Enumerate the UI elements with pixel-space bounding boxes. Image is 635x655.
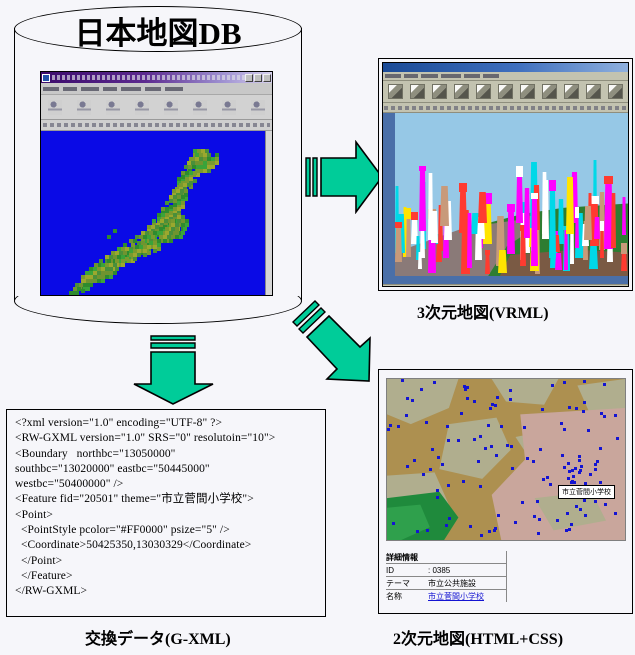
map-point-marker[interactable] bbox=[469, 525, 472, 528]
map-point-marker[interactable] bbox=[489, 407, 492, 410]
vrml-building bbox=[428, 173, 433, 240]
map-point-marker[interactable] bbox=[425, 421, 428, 424]
detail-value-id: : 0385 bbox=[428, 566, 506, 575]
map-point-marker[interactable] bbox=[526, 457, 529, 460]
vrml-titlebar[interactable] bbox=[383, 63, 628, 72]
vrml-building bbox=[600, 231, 604, 258]
map-point-marker[interactable] bbox=[594, 500, 597, 503]
vrml-search-icon[interactable] bbox=[498, 84, 513, 99]
detail-key-name: 名称 bbox=[386, 591, 428, 602]
detail-key-theme: テーマ bbox=[386, 578, 428, 589]
map-point-marker[interactable] bbox=[422, 473, 425, 476]
vrml-forward-icon[interactable] bbox=[410, 84, 425, 99]
map-land-cell bbox=[153, 249, 157, 253]
map-point-marker[interactable] bbox=[563, 428, 566, 431]
vrml-edit-icon[interactable] bbox=[608, 84, 623, 99]
vrml-viewer-window[interactable] bbox=[382, 62, 629, 287]
map2d-canvas[interactable]: 市立菅間小学校 bbox=[386, 378, 626, 541]
vrml-building-cap bbox=[575, 207, 579, 218]
map-land-cell bbox=[137, 253, 141, 257]
map-land-cell bbox=[101, 271, 105, 275]
database-title: 日本地図DB bbox=[14, 8, 302, 53]
map-point-marker[interactable] bbox=[509, 389, 512, 392]
map-point-marker[interactable] bbox=[574, 467, 577, 470]
map-point-marker[interactable] bbox=[473, 438, 476, 441]
map-point-marker[interactable] bbox=[497, 514, 500, 517]
map-land-cell bbox=[193, 179, 197, 183]
menu-item-edit[interactable] bbox=[63, 87, 77, 91]
map-point-marker[interactable] bbox=[603, 383, 606, 386]
caption-html-map: 2次元地図(HTML+CSS) bbox=[393, 625, 563, 649]
map-land-cell bbox=[157, 247, 161, 251]
map-land-cell bbox=[193, 171, 197, 175]
vrml-viewer-frame bbox=[378, 58, 633, 291]
map-land-cell bbox=[113, 271, 117, 275]
map-point-marker[interactable] bbox=[583, 380, 586, 383]
app-icon bbox=[42, 74, 50, 82]
vrml-stop-icon[interactable] bbox=[432, 84, 447, 99]
gxml-code-box: <?xml version="1.0" encoding="UTF-8" ?> … bbox=[6, 409, 326, 617]
vrml-viewer-statusbar bbox=[383, 276, 628, 284]
map-point-marker[interactable] bbox=[447, 484, 450, 487]
map-point-marker[interactable] bbox=[506, 444, 509, 447]
vrml-history-icon[interactable] bbox=[542, 84, 557, 99]
map-land-cell bbox=[169, 239, 173, 243]
vrml-building bbox=[555, 253, 562, 270]
vrml-building-cap bbox=[621, 243, 627, 254]
detail-info-title: 詳細情報 bbox=[386, 552, 418, 563]
detail-value-theme: 市立公共施設 bbox=[428, 578, 506, 589]
map-point-marker[interactable] bbox=[567, 462, 570, 465]
map-land-cell bbox=[215, 161, 219, 165]
map-point-marker[interactable] bbox=[568, 470, 571, 473]
arrow-to-vrml bbox=[304, 140, 384, 214]
map-land-cell bbox=[181, 205, 185, 209]
menu-bar[interactable] bbox=[41, 83, 272, 95]
vrml-building bbox=[419, 171, 426, 231]
map-point-marker[interactable] bbox=[389, 424, 392, 427]
vrml-building bbox=[564, 230, 568, 270]
vrml-building bbox=[611, 193, 616, 248]
vrml-building bbox=[478, 192, 487, 223]
map-island-cell bbox=[107, 235, 111, 239]
map-point-marker[interactable] bbox=[496, 396, 499, 399]
vrml-building bbox=[622, 197, 626, 235]
vrml-menu-view[interactable] bbox=[421, 74, 438, 78]
maximize-button[interactable] bbox=[254, 74, 262, 82]
map-point-marker[interactable] bbox=[466, 386, 469, 389]
vrml-3d-scene[interactable] bbox=[383, 113, 628, 276]
map-point-marker[interactable] bbox=[509, 398, 512, 401]
map-point-marker[interactable] bbox=[420, 388, 423, 391]
map-point-marker[interactable] bbox=[600, 412, 603, 415]
map-point-marker[interactable] bbox=[480, 534, 483, 537]
vrml-menu-edit[interactable] bbox=[404, 74, 418, 78]
map-point-marker[interactable] bbox=[614, 512, 617, 515]
map-point-marker[interactable] bbox=[573, 481, 576, 484]
vertical-scrollbar[interactable] bbox=[265, 131, 272, 296]
map-island-cell bbox=[81, 289, 85, 293]
map-point-marker[interactable] bbox=[479, 435, 482, 438]
vrml-building-cap bbox=[549, 180, 556, 191]
vrml-building-cap bbox=[485, 250, 490, 255]
map-point-marker[interactable] bbox=[575, 505, 578, 508]
map-point-marker[interactable] bbox=[546, 476, 549, 479]
map-point-marker[interactable] bbox=[460, 412, 463, 415]
vrml-building-cap bbox=[459, 183, 467, 192]
detail-key-id: ID bbox=[386, 566, 428, 575]
vrml-building bbox=[531, 199, 538, 266]
vrml-building bbox=[516, 177, 523, 223]
map-point-marker[interactable] bbox=[579, 469, 582, 472]
vrml-building bbox=[485, 255, 490, 274]
map-point-marker[interactable] bbox=[446, 425, 449, 428]
map-point-marker[interactable] bbox=[500, 425, 503, 428]
map-point-marker[interactable] bbox=[589, 473, 592, 476]
map-point-marker[interactable] bbox=[532, 460, 535, 463]
vrml-favorites-icon[interactable] bbox=[520, 84, 535, 99]
vrml-building bbox=[440, 186, 449, 226]
map-point-marker[interactable] bbox=[473, 400, 476, 403]
map-point-marker[interactable] bbox=[567, 477, 570, 480]
vrml-building bbox=[498, 250, 507, 273]
map-point-marker[interactable] bbox=[491, 403, 494, 406]
map-point-marker[interactable] bbox=[533, 515, 536, 518]
map-point-marker[interactable] bbox=[406, 397, 409, 400]
map-point-marker[interactable] bbox=[406, 465, 409, 468]
vrml-building bbox=[406, 219, 411, 257]
vrml-building bbox=[467, 213, 472, 268]
caption-gxml: 交換データ(G-XML) bbox=[85, 625, 231, 649]
map-point-marker[interactable] bbox=[614, 414, 617, 417]
map-point-marker[interactable] bbox=[594, 463, 597, 466]
map-point-marker[interactable] bbox=[566, 512, 569, 515]
minimize-button[interactable] bbox=[245, 74, 253, 82]
arrow-to-gxml bbox=[133, 334, 217, 408]
map-point-marker[interactable] bbox=[578, 459, 581, 462]
window-controls[interactable] bbox=[245, 74, 271, 82]
vrml-refresh-icon[interactable] bbox=[454, 84, 469, 99]
vrml-building bbox=[524, 188, 530, 238]
map-point-marker[interactable] bbox=[413, 459, 416, 462]
map-point-marker[interactable] bbox=[514, 521, 517, 524]
map-point-marker[interactable] bbox=[594, 468, 597, 471]
japan-map-viewport[interactable] bbox=[41, 131, 272, 296]
vrml-building-cap bbox=[406, 208, 411, 219]
vrml-building-cap bbox=[600, 221, 604, 231]
map-point-marker[interactable] bbox=[568, 528, 571, 531]
map-land-cell bbox=[187, 183, 191, 187]
caption-vrml: 3次元地図(VRML) bbox=[417, 299, 549, 323]
vrml-building bbox=[549, 191, 556, 258]
map-point-marker[interactable] bbox=[539, 448, 542, 451]
map-point-marker[interactable] bbox=[493, 529, 496, 532]
map-point-marker[interactable] bbox=[511, 467, 514, 470]
map-point-marker[interactable] bbox=[582, 410, 585, 413]
map-point-marker[interactable] bbox=[604, 503, 607, 506]
address-text[interactable] bbox=[43, 123, 270, 127]
map-point-marker[interactable] bbox=[445, 524, 448, 527]
home-icon[interactable] bbox=[164, 100, 178, 115]
vrml-building bbox=[594, 217, 600, 239]
map-point-marker[interactable] bbox=[436, 496, 439, 499]
map-point-marker[interactable] bbox=[551, 384, 554, 387]
map-point-marker[interactable] bbox=[521, 501, 524, 504]
vrml-building bbox=[575, 218, 579, 248]
map-point-marker[interactable] bbox=[477, 460, 480, 463]
map-point-marker[interactable] bbox=[561, 454, 564, 457]
map-point-marker[interactable] bbox=[426, 529, 429, 532]
print-icon[interactable] bbox=[251, 100, 265, 115]
map-point-marker[interactable] bbox=[448, 517, 451, 520]
map-point-marker[interactable] bbox=[494, 404, 497, 407]
japan-map-browser-window[interactable] bbox=[40, 71, 273, 296]
html-css-map-frame: 市立菅間小学校 詳細情報 ID : 0385 テーマ 市立公共施設 名称 市立菅… bbox=[378, 369, 633, 614]
map-point-marker[interactable] bbox=[563, 466, 566, 469]
map-point-marker[interactable] bbox=[510, 445, 513, 448]
map-point-marker[interactable] bbox=[397, 425, 400, 428]
map-point-marker[interactable] bbox=[599, 447, 602, 450]
close-button[interactable] bbox=[263, 74, 271, 82]
map-land-cell bbox=[147, 245, 151, 249]
vrml-building-cap bbox=[507, 204, 515, 212]
menu-item-help[interactable] bbox=[165, 87, 183, 91]
map-land-cell bbox=[181, 231, 185, 235]
map-point-marker[interactable] bbox=[433, 381, 436, 384]
map-point-marker[interactable] bbox=[584, 514, 587, 517]
map-point-marker[interactable] bbox=[549, 483, 552, 486]
map-land-cell bbox=[77, 295, 81, 296]
map-point-marker[interactable] bbox=[575, 407, 578, 410]
search-icon[interactable] bbox=[193, 100, 207, 115]
map-tooltip: 市立菅間小学校 bbox=[558, 485, 615, 499]
vrml-building-cap bbox=[411, 212, 418, 220]
vrml-building bbox=[566, 177, 574, 234]
map-point-marker[interactable] bbox=[495, 454, 498, 457]
map-land-cell bbox=[179, 235, 183, 239]
map-point-marker[interactable] bbox=[542, 478, 545, 481]
map-point-marker[interactable] bbox=[466, 397, 469, 400]
map-point-marker[interactable] bbox=[599, 481, 602, 484]
vrml-toolbar[interactable] bbox=[383, 81, 628, 103]
map-point-marker[interactable] bbox=[570, 523, 573, 526]
map-detail-info-panel: 詳細情報 ID : 0385 テーマ 市立公共施設 名称 市立菅間小学校 bbox=[386, 551, 507, 602]
back-icon[interactable] bbox=[48, 100, 62, 115]
menu-item-tools[interactable] bbox=[145, 87, 161, 91]
refresh-icon[interactable] bbox=[135, 100, 149, 115]
vrml-building-cap bbox=[604, 176, 613, 184]
map-point-marker[interactable] bbox=[537, 532, 540, 535]
map-point-marker[interactable] bbox=[437, 456, 440, 459]
map-point-marker[interactable] bbox=[603, 415, 606, 418]
vrml-building-cap bbox=[531, 193, 538, 199]
map-point-marker[interactable] bbox=[387, 428, 390, 431]
map-point-marker[interactable] bbox=[616, 437, 619, 440]
map-point-marker[interactable] bbox=[431, 448, 434, 451]
vrml-mail-icon[interactable] bbox=[564, 84, 579, 99]
vrml-menu-bar[interactable] bbox=[383, 72, 628, 81]
vrml-menu-favorites[interactable] bbox=[441, 74, 461, 78]
map-point-marker[interactable] bbox=[536, 500, 539, 503]
vrml-menu-tools[interactable] bbox=[464, 74, 480, 78]
menu-item-view[interactable] bbox=[81, 87, 99, 91]
map-point-marker[interactable] bbox=[401, 379, 404, 382]
map-point-marker[interactable] bbox=[479, 485, 482, 488]
vrml-building-cap bbox=[395, 222, 402, 228]
detail-row-id: ID : 0385 bbox=[386, 564, 506, 576]
vrml-building-cap bbox=[419, 166, 426, 171]
menu-item-file[interactable] bbox=[43, 87, 59, 91]
vrml-building bbox=[418, 252, 422, 269]
map-point-marker[interactable] bbox=[538, 518, 541, 521]
map-point-marker[interactable] bbox=[447, 439, 450, 442]
window-titlebar[interactable] bbox=[41, 72, 272, 83]
map-point-marker[interactable] bbox=[583, 401, 586, 404]
vrml-building bbox=[395, 228, 402, 262]
map-point-marker[interactable] bbox=[578, 455, 581, 458]
vrml-building bbox=[621, 254, 627, 271]
map-point-marker[interactable] bbox=[457, 439, 460, 442]
map-land-cell bbox=[185, 223, 189, 227]
map-point-marker[interactable] bbox=[488, 530, 491, 533]
map-point-marker[interactable] bbox=[568, 406, 571, 409]
map-land-cell bbox=[133, 257, 137, 261]
map-point-marker[interactable] bbox=[587, 429, 590, 432]
map-point-marker[interactable] bbox=[484, 447, 487, 450]
map-island-cell bbox=[113, 229, 117, 233]
map-point-marker[interactable] bbox=[523, 426, 526, 429]
map-point-marker[interactable] bbox=[411, 399, 414, 402]
map-point-marker[interactable] bbox=[560, 422, 563, 425]
detail-value-name-link[interactable]: 市立菅間小学校 bbox=[428, 591, 506, 602]
favorites-icon[interactable] bbox=[222, 100, 236, 115]
detail-row-theme: テーマ 市立公共施設 bbox=[386, 576, 506, 589]
map-island-cell bbox=[69, 291, 73, 295]
map-land-cell bbox=[143, 253, 147, 257]
vrml-home-icon[interactable] bbox=[476, 84, 491, 99]
map-land-cell bbox=[113, 263, 117, 267]
map-land-cell bbox=[163, 239, 167, 243]
map-land-cell bbox=[175, 227, 179, 231]
vrml-taskbar[interactable] bbox=[383, 284, 628, 287]
map-point-marker[interactable] bbox=[429, 468, 432, 471]
menu-item-favorites[interactable] bbox=[121, 87, 141, 91]
forward-icon[interactable] bbox=[77, 100, 91, 115]
map-point-marker[interactable] bbox=[541, 408, 544, 411]
map-land-cell bbox=[121, 263, 125, 267]
map-point-marker[interactable] bbox=[572, 475, 575, 478]
map-land-cell bbox=[207, 169, 211, 173]
map-land-cell bbox=[109, 275, 113, 279]
gxml-code-text: <?xml version="1.0" encoding="UTF-8" ?> … bbox=[15, 416, 319, 600]
detail-info-header: 詳細情報 bbox=[386, 551, 506, 564]
vrml-menu-file[interactable] bbox=[385, 74, 401, 78]
toolbar[interactable] bbox=[41, 95, 272, 120]
map-point-marker[interactable] bbox=[416, 530, 419, 533]
map-land-cell bbox=[211, 165, 215, 169]
vrml-address-bar[interactable] bbox=[383, 103, 628, 113]
vrml-menu-help[interactable] bbox=[483, 74, 499, 78]
menu-item-go[interactable] bbox=[103, 87, 117, 91]
map-point-marker[interactable] bbox=[462, 480, 465, 483]
map-land-cell bbox=[183, 227, 187, 231]
vrml-print-icon[interactable] bbox=[586, 84, 601, 99]
map-land-cell bbox=[173, 231, 177, 235]
map-point-marker[interactable] bbox=[441, 463, 444, 466]
map-point-marker[interactable] bbox=[579, 508, 582, 511]
vrml-building bbox=[507, 212, 515, 254]
map-point-marker[interactable] bbox=[487, 424, 490, 427]
vrml-building-cap bbox=[516, 166, 523, 177]
map-point-marker[interactable] bbox=[556, 519, 559, 522]
vrml-building bbox=[584, 206, 592, 240]
map-point-marker[interactable] bbox=[580, 465, 583, 468]
vrml-building bbox=[589, 246, 598, 269]
map-point-marker[interactable] bbox=[583, 499, 586, 502]
map-point-marker[interactable] bbox=[490, 445, 493, 448]
window-title-text bbox=[52, 75, 245, 80]
map-land-cell bbox=[101, 279, 105, 283]
vrml-back-icon[interactable] bbox=[388, 84, 403, 99]
map-point-marker[interactable] bbox=[563, 381, 566, 384]
vrml-building bbox=[542, 172, 547, 234]
address-bar[interactable] bbox=[41, 120, 272, 131]
map-point-marker[interactable] bbox=[436, 489, 439, 492]
map-point-marker[interactable] bbox=[570, 481, 573, 484]
map-point-marker[interactable] bbox=[405, 414, 408, 417]
map-land-cell bbox=[125, 257, 129, 261]
diagram-canvas: 日本地図DB bbox=[0, 0, 635, 655]
detail-row-name: 名称 市立菅間小学校 bbox=[386, 589, 506, 602]
vrml-address-text[interactable] bbox=[384, 106, 627, 110]
stop-icon[interactable] bbox=[106, 100, 120, 115]
map-point-marker[interactable] bbox=[392, 522, 395, 525]
